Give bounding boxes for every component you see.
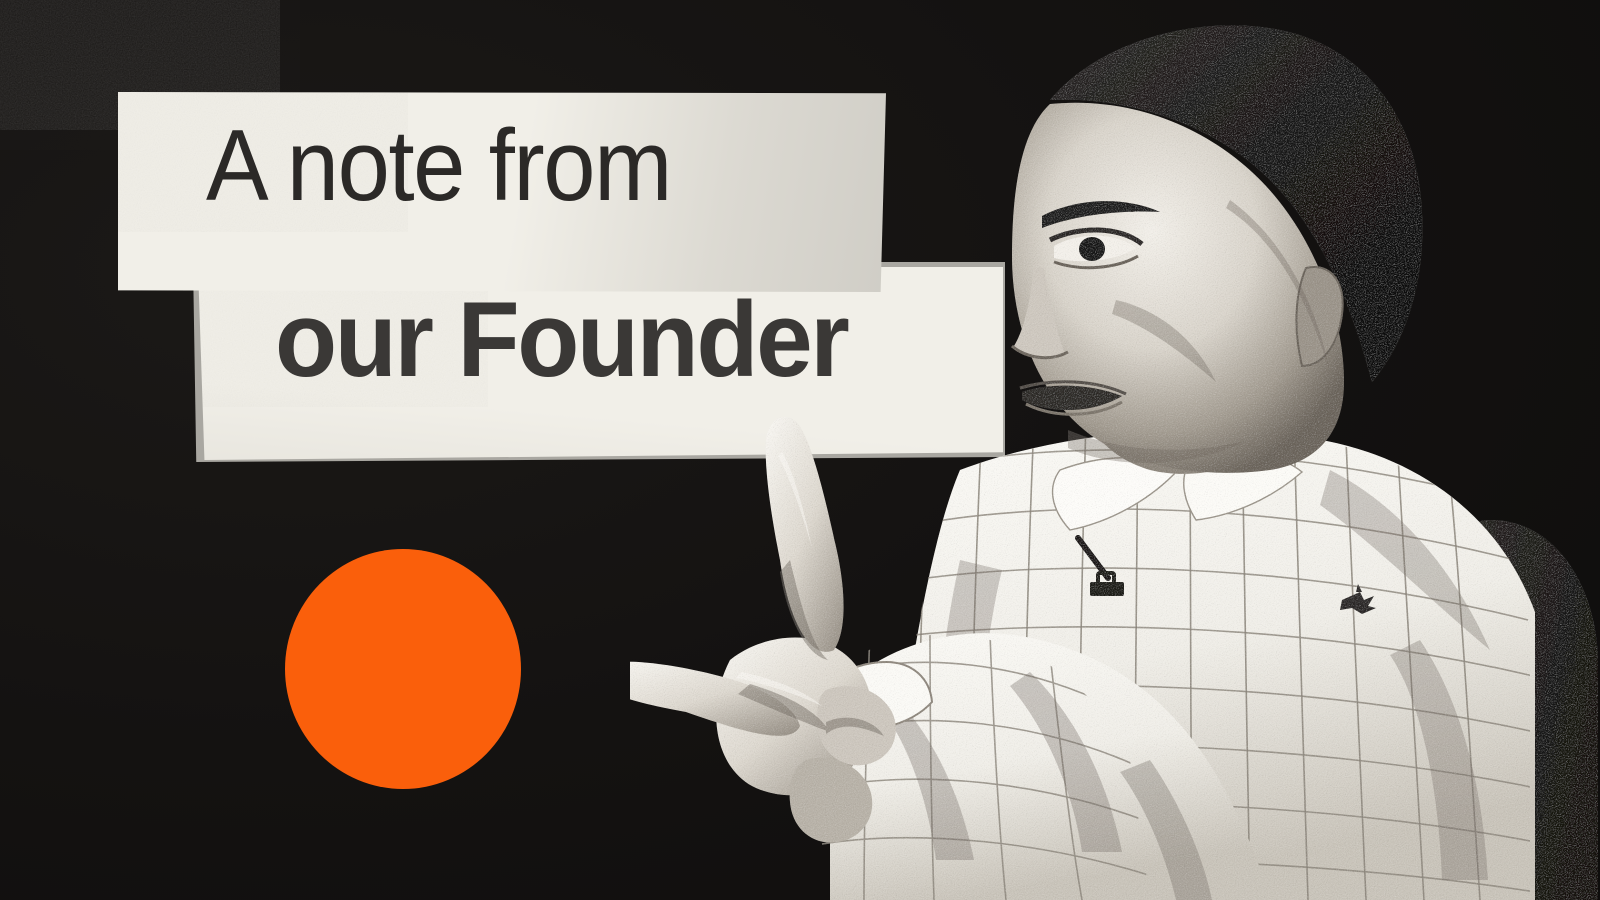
headline-line-1: A note from: [206, 116, 671, 217]
open-hand: [630, 417, 896, 843]
poster-canvas: our Founder A note from: [0, 0, 1600, 900]
founder-portrait: [630, 0, 1600, 900]
orange-circle: [285, 549, 521, 789]
